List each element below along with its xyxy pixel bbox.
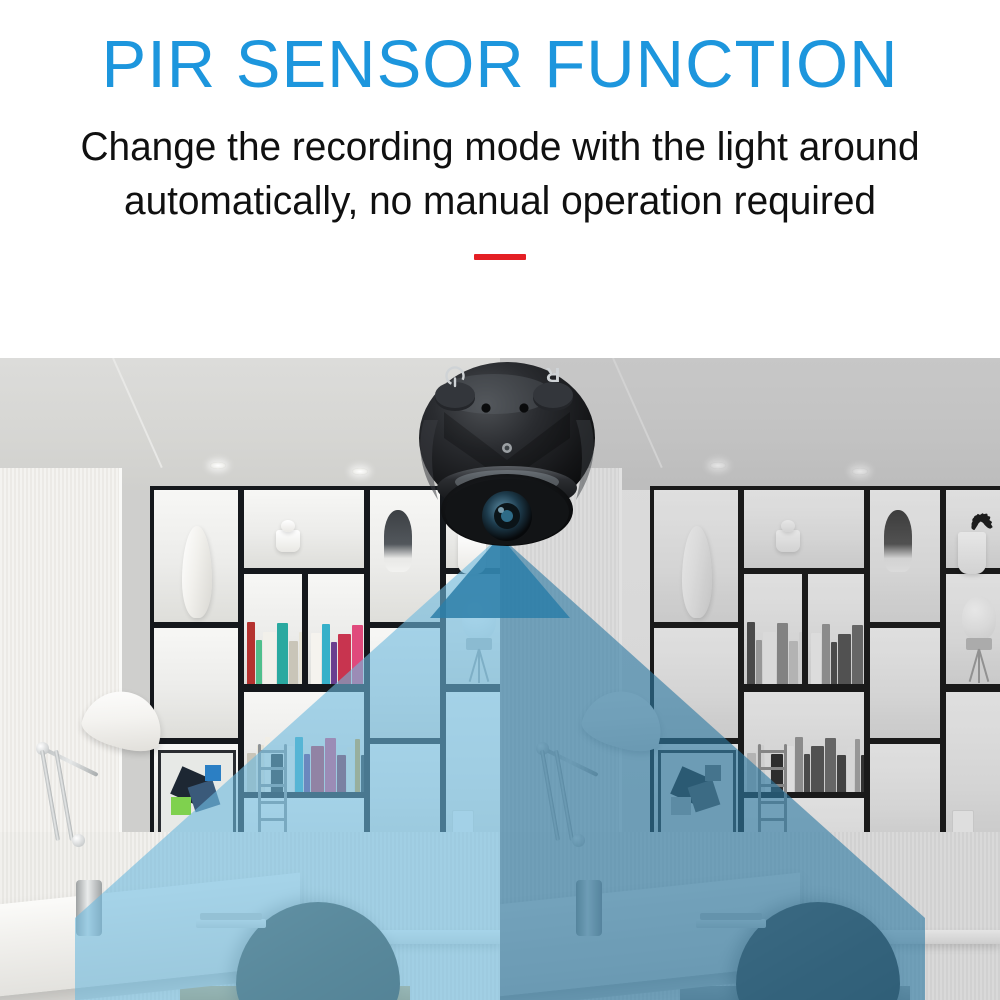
book: [763, 632, 776, 685]
tripod-lamp: [952, 596, 1000, 682]
book: [347, 747, 354, 792]
shelf-cell: [804, 570, 868, 688]
shelf-cell: [366, 624, 444, 742]
book-row: [747, 616, 800, 684]
book: [747, 622, 755, 684]
book: [289, 641, 298, 684]
book: [747, 753, 756, 792]
book: [855, 739, 860, 792]
book: [811, 746, 824, 792]
book: [322, 624, 330, 684]
book: [337, 755, 346, 792]
book: [304, 754, 310, 792]
book: [295, 737, 303, 792]
book: [756, 640, 762, 684]
book: [355, 739, 360, 792]
ceiling-spotlight: [710, 462, 726, 469]
book: [311, 746, 324, 792]
red-divider: [474, 254, 526, 260]
small-pot: [776, 530, 800, 552]
ceiling-spotlight: [210, 462, 226, 469]
book: [838, 634, 851, 684]
shelf-cell: [740, 570, 806, 688]
book: [256, 640, 262, 684]
book: [263, 632, 276, 685]
mic-hole-right: [519, 403, 528, 412]
book: [247, 622, 255, 684]
shelf-cell: [240, 570, 306, 688]
pot-top: [781, 520, 795, 532]
desk-lamp: [24, 688, 174, 938]
book: [852, 625, 863, 684]
shelf-cell: [866, 624, 944, 742]
book: [837, 755, 846, 792]
book: [811, 633, 821, 684]
stacked-books: [200, 913, 262, 920]
book: [789, 641, 798, 684]
page-subtitle: Change the recording mode with the light…: [34, 120, 965, 228]
book-row: [247, 616, 300, 684]
shelf-cell: [304, 570, 368, 688]
book: [804, 754, 810, 792]
book-row: [811, 616, 862, 684]
book: [822, 624, 830, 684]
book: [277, 623, 288, 684]
book: [325, 738, 336, 792]
tripod-lamp: [452, 596, 500, 682]
mic-hole-left: [481, 403, 490, 412]
wire-ladder: [756, 744, 790, 840]
book: [331, 642, 337, 684]
book-row: [311, 616, 362, 684]
stacked-books: [700, 913, 762, 920]
page-title: PIR SENSOR FUNCTION: [102, 28, 899, 102]
shelf-cell: [740, 486, 868, 572]
ceiling-spotlight: [852, 468, 868, 475]
book: [247, 753, 256, 792]
small-pot: [276, 530, 300, 552]
desk-lamp: [524, 688, 674, 938]
shelf-cell: [240, 486, 368, 572]
book: [311, 633, 321, 684]
pot-top: [281, 520, 295, 532]
plant-container: [952, 508, 994, 574]
dark-vase: [884, 510, 912, 572]
reset-label: R: [545, 363, 560, 385]
dome-camera-device[interactable]: R: [382, 360, 632, 575]
book: [831, 642, 837, 684]
scene-photo: R Day Night: [0, 358, 1000, 1000]
stacked-books: [196, 919, 266, 928]
book: [825, 738, 836, 792]
book: [777, 623, 788, 684]
book: [338, 634, 351, 684]
ceiling-spotlight: [352, 468, 368, 475]
wire-ladder: [256, 744, 290, 840]
book: [795, 737, 803, 792]
book: [352, 625, 363, 684]
header-section: PIR SENSOR FUNCTION Change the recording…: [0, 0, 1000, 358]
book: [847, 747, 854, 792]
stacked-books: [696, 919, 766, 928]
